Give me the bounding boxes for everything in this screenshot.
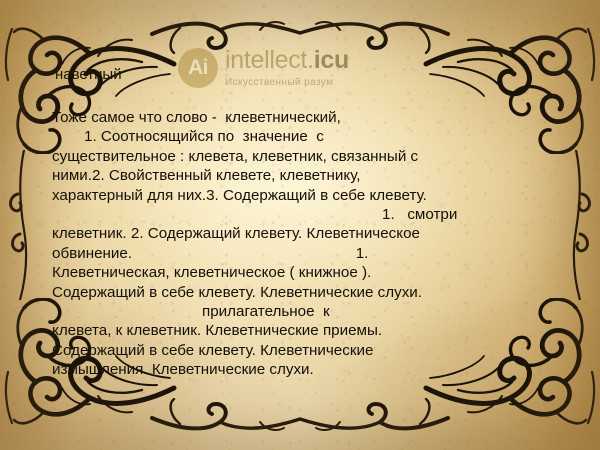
- definition-body: Тоже самое что слово - клеветнический,1.…: [52, 108, 554, 380]
- definition-line: Клеветническая, клеветническое ( книжное…: [52, 263, 554, 282]
- definition-line: существительное : клевета, клеветник, св…: [52, 147, 554, 166]
- definition-line: 1. Соотносящийся по значение с: [52, 127, 554, 146]
- definition-line: клеветник. 2. Содержащий клевету. Клевет…: [52, 224, 554, 243]
- definition-line: измышления. Клеветнические слухи.: [52, 360, 554, 379]
- definition-line: характерный для них.3. Содержащий в себе…: [52, 186, 554, 205]
- definition-line: Тоже самое что слово - клеветнический,: [52, 108, 554, 127]
- definition-content: наветный Тоже самое что слово - клеветни…: [0, 0, 600, 450]
- definition-line: 1. смотри: [52, 205, 554, 224]
- definition-line: Содержащий в себе клевету. Клеветнически…: [52, 341, 554, 360]
- definition-line: прилагательное к: [52, 302, 554, 321]
- parchment-page: Ai intellect.icu Искусственный разум нав…: [0, 0, 600, 450]
- definition-line: ними.2. Свойственный клевете, клеветнику…: [52, 166, 554, 185]
- definition-line: Содержащий в себе клевету. Клеветнически…: [52, 283, 554, 302]
- definition-line: клевета, к клеветник. Клеветнические при…: [52, 321, 554, 340]
- definition-line: обвинение. 1.: [52, 244, 554, 263]
- page-title: наветный: [55, 66, 122, 83]
